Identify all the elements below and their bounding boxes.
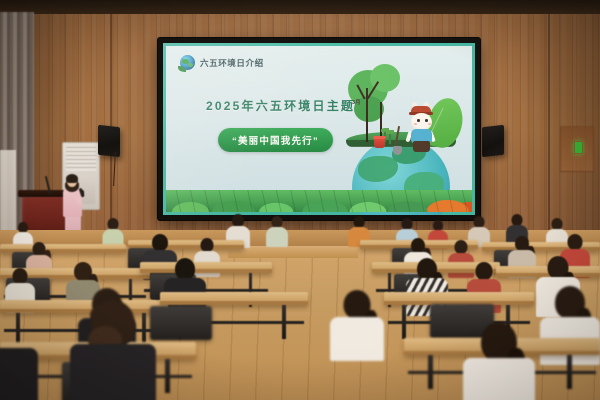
person-body — [266, 227, 288, 247]
earth-globe-leaf-logo-icon — [180, 55, 195, 70]
landmass — [358, 156, 398, 182]
list-item — [0, 336, 40, 400]
ac-vents — [66, 147, 96, 171]
chair[interactable] — [150, 306, 212, 340]
rabbit-mascot — [404, 108, 438, 154]
rabbit-eye — [417, 119, 420, 122]
table-row — [160, 292, 308, 305]
list-item — [470, 322, 528, 400]
screen-surface: 六五环境日介绍 2025年六五环境日主题为 “美丽中国我先行” — [163, 43, 475, 215]
auditorium-scene: 六五环境日介绍 2025年六五环境日主题为 “美丽中国我先行” — [0, 0, 600, 400]
shovel-icon — [393, 146, 402, 155]
list-item — [336, 290, 378, 356]
person-body — [0, 348, 38, 400]
person-head — [13, 268, 28, 284]
person-head — [152, 234, 168, 251]
slide-canvas: 六五环境日介绍 2025年六五环境日主题为 “美丽中国我先行” — [163, 43, 475, 215]
emergency-exit-light-icon — [574, 141, 583, 154]
slide-theme-pill: “美丽中国我先行” — [218, 128, 333, 152]
person-body — [70, 344, 156, 400]
presenter-hair — [66, 174, 78, 183]
slide-header: 六五环境日介绍 — [180, 55, 264, 70]
slide-illustration: 3月 — [334, 62, 466, 210]
sprout-icon — [389, 132, 391, 144]
rabbit-cheek — [428, 123, 431, 125]
led-display-screen[interactable]: 六五环境日介绍 2025年六五环境日主题为 “美丽中国我先行” — [158, 38, 480, 220]
list-item — [78, 300, 148, 400]
bucket-icon — [374, 138, 385, 148]
rabbit-legs — [413, 141, 430, 152]
ceiling-strip — [0, 0, 600, 14]
person-body — [463, 358, 535, 400]
person-head — [201, 238, 214, 252]
person-head — [568, 234, 583, 250]
person-head — [175, 258, 195, 280]
leaf-icon — [178, 66, 186, 72]
list-item — [104, 218, 122, 246]
rabbit-eye — [425, 119, 428, 122]
person-body — [330, 317, 384, 361]
person-head — [476, 262, 493, 280]
table-row — [140, 262, 272, 273]
slide-header-label: 六五环境日介绍 — [200, 57, 264, 69]
foliage-stalks — [166, 190, 472, 212]
slide-foliage-border — [166, 190, 472, 212]
wall-speaker-right — [482, 125, 504, 157]
presenter — [62, 176, 84, 238]
list-item — [268, 216, 286, 244]
person-head — [455, 240, 468, 254]
slide-watermark: 3月 — [352, 98, 361, 106]
rabbit-cheek — [414, 123, 417, 125]
wall-speaker-left — [98, 125, 120, 157]
